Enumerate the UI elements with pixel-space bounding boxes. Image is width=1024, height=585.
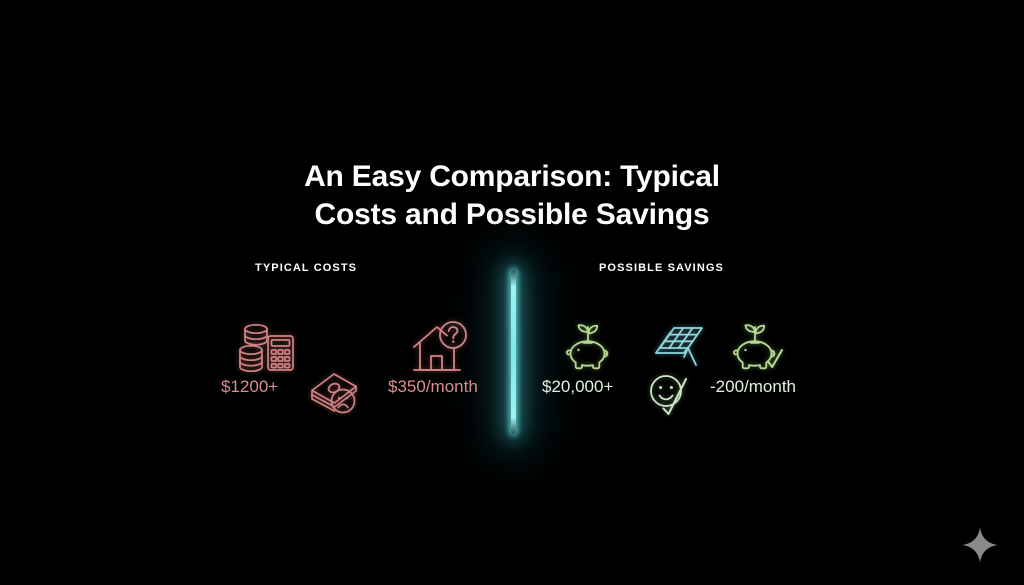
saving-value-total: $20,000+ bbox=[542, 376, 613, 398]
savings-heading: POSSIBLE SAVINGS bbox=[599, 262, 724, 274]
sparkle-icon bbox=[960, 525, 1000, 565]
sad-money-icon bbox=[306, 370, 364, 418]
savings-column: POSSIBLE SAVINGS bbox=[524, 262, 984, 442]
cost-value-upfront: $1200+ bbox=[221, 376, 278, 398]
coins-calculator-icon bbox=[236, 318, 298, 376]
piggy-bank-plant-icon bbox=[557, 318, 619, 376]
title-line-2: Costs and Possible Savings bbox=[0, 196, 1024, 234]
costs-heading: TYPICAL COSTS bbox=[255, 262, 357, 274]
costs-icon-row bbox=[40, 290, 500, 352]
piggy-bank-check-icon bbox=[727, 318, 789, 376]
savings-icon-row bbox=[524, 290, 984, 352]
vertical-glow-divider bbox=[511, 270, 516, 434]
costs-value-row: $1200+ bbox=[40, 374, 500, 424]
costs-column: TYPICAL COSTS bbox=[40, 262, 500, 442]
savings-value-row: $20,000+ -200/month bbox=[524, 374, 984, 424]
smiley-check-icon bbox=[642, 370, 700, 418]
comparison-section: TYPICAL COSTS bbox=[0, 262, 1024, 442]
page-title: An Easy Comparison: Typical Costs and Po… bbox=[0, 158, 1024, 234]
title-line-1: An Easy Comparison: Typical bbox=[0, 158, 1024, 196]
solar-panel-icon bbox=[647, 318, 709, 376]
house-question-icon bbox=[410, 318, 472, 376]
slide-canvas: An Easy Comparison: Typical Costs and Po… bbox=[0, 0, 1024, 585]
cost-value-monthly: $350/month bbox=[388, 376, 478, 398]
saving-value-monthly: -200/month bbox=[710, 376, 796, 398]
